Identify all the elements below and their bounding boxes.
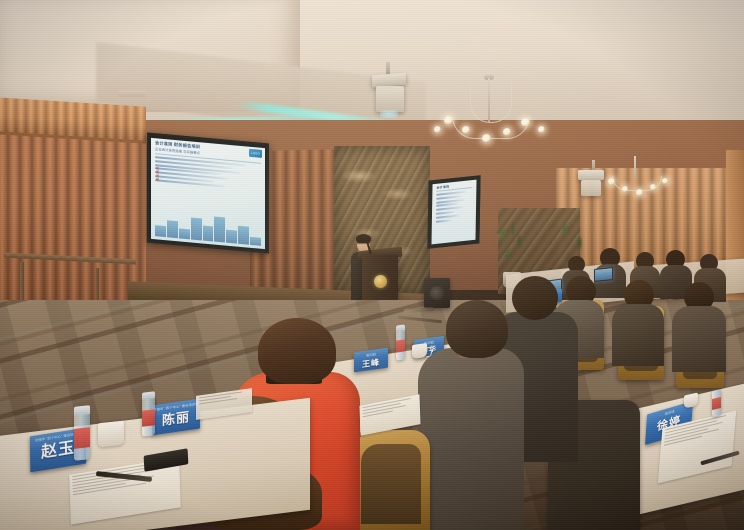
attendee-gray-coat-head bbox=[446, 300, 508, 358]
conference-room-photo: LOGO 会计准则 财务报告培训 企业会计准则指南 与实施要点 指南说明 bbox=[0, 0, 744, 530]
ceiling-projector-right bbox=[578, 170, 604, 180]
chandelier-stem-right bbox=[634, 156, 636, 178]
chandelier-bulb bbox=[462, 126, 470, 134]
chandelier-bulb bbox=[636, 189, 643, 196]
chandelier-bulb bbox=[434, 126, 441, 133]
attendee-torso bbox=[612, 304, 664, 366]
ceiling-projector-left-body bbox=[376, 86, 404, 112]
projector-lens bbox=[380, 110, 398, 118]
loudspeaker-cone bbox=[430, 286, 444, 300]
bottle-label bbox=[712, 397, 721, 410]
attendee-dark-coat-head bbox=[512, 276, 558, 320]
secondary-slide: 会计准则 bbox=[431, 180, 476, 245]
chandelier-bulb bbox=[608, 178, 615, 185]
chandelier-bulb bbox=[503, 128, 511, 136]
ceiling-vent bbox=[118, 90, 146, 97]
slide-side-label: 指南说明 bbox=[154, 166, 159, 182]
attendee-torso bbox=[672, 306, 726, 372]
chandelier-bulb bbox=[662, 178, 668, 184]
main-slide: LOGO 会计准则 财务报告培训 企业会计准则指南 与实施要点 指南说明 bbox=[151, 138, 265, 249]
secondary-projection-screen: 会计准则 bbox=[427, 175, 480, 249]
banquet-chair bbox=[352, 430, 430, 530]
main-projection-screen: LOGO 会计准则 财务报告培训 企业会计准则指南 与实施要点 指南说明 bbox=[147, 132, 269, 253]
ceiling-projector-right-body bbox=[581, 180, 601, 196]
coffee-mug bbox=[98, 421, 124, 448]
bottle-cap bbox=[396, 324, 405, 331]
chandelier-bulb bbox=[538, 126, 545, 133]
chandelier-bulb bbox=[444, 116, 453, 125]
chandelier-bulb bbox=[622, 186, 628, 192]
bottle-label bbox=[142, 409, 155, 427]
podium-emblem bbox=[374, 275, 387, 288]
attendee-red-jacket-head bbox=[258, 318, 336, 384]
slide-chart bbox=[155, 208, 261, 246]
bottle-label bbox=[74, 427, 90, 449]
attendee-gray-coat-torso bbox=[418, 348, 524, 530]
chandelier-bulb bbox=[521, 118, 530, 127]
chandelier-bulb bbox=[482, 134, 491, 143]
plant-foliage bbox=[492, 218, 530, 274]
laptop-screen bbox=[594, 267, 613, 282]
chandelier-bulb bbox=[650, 184, 656, 190]
presenter-hair bbox=[356, 234, 371, 243]
bottle-cap bbox=[74, 405, 90, 416]
bottle-label bbox=[396, 339, 405, 352]
projector-mount bbox=[592, 160, 595, 170]
slide-logo: LOGO bbox=[249, 149, 262, 158]
